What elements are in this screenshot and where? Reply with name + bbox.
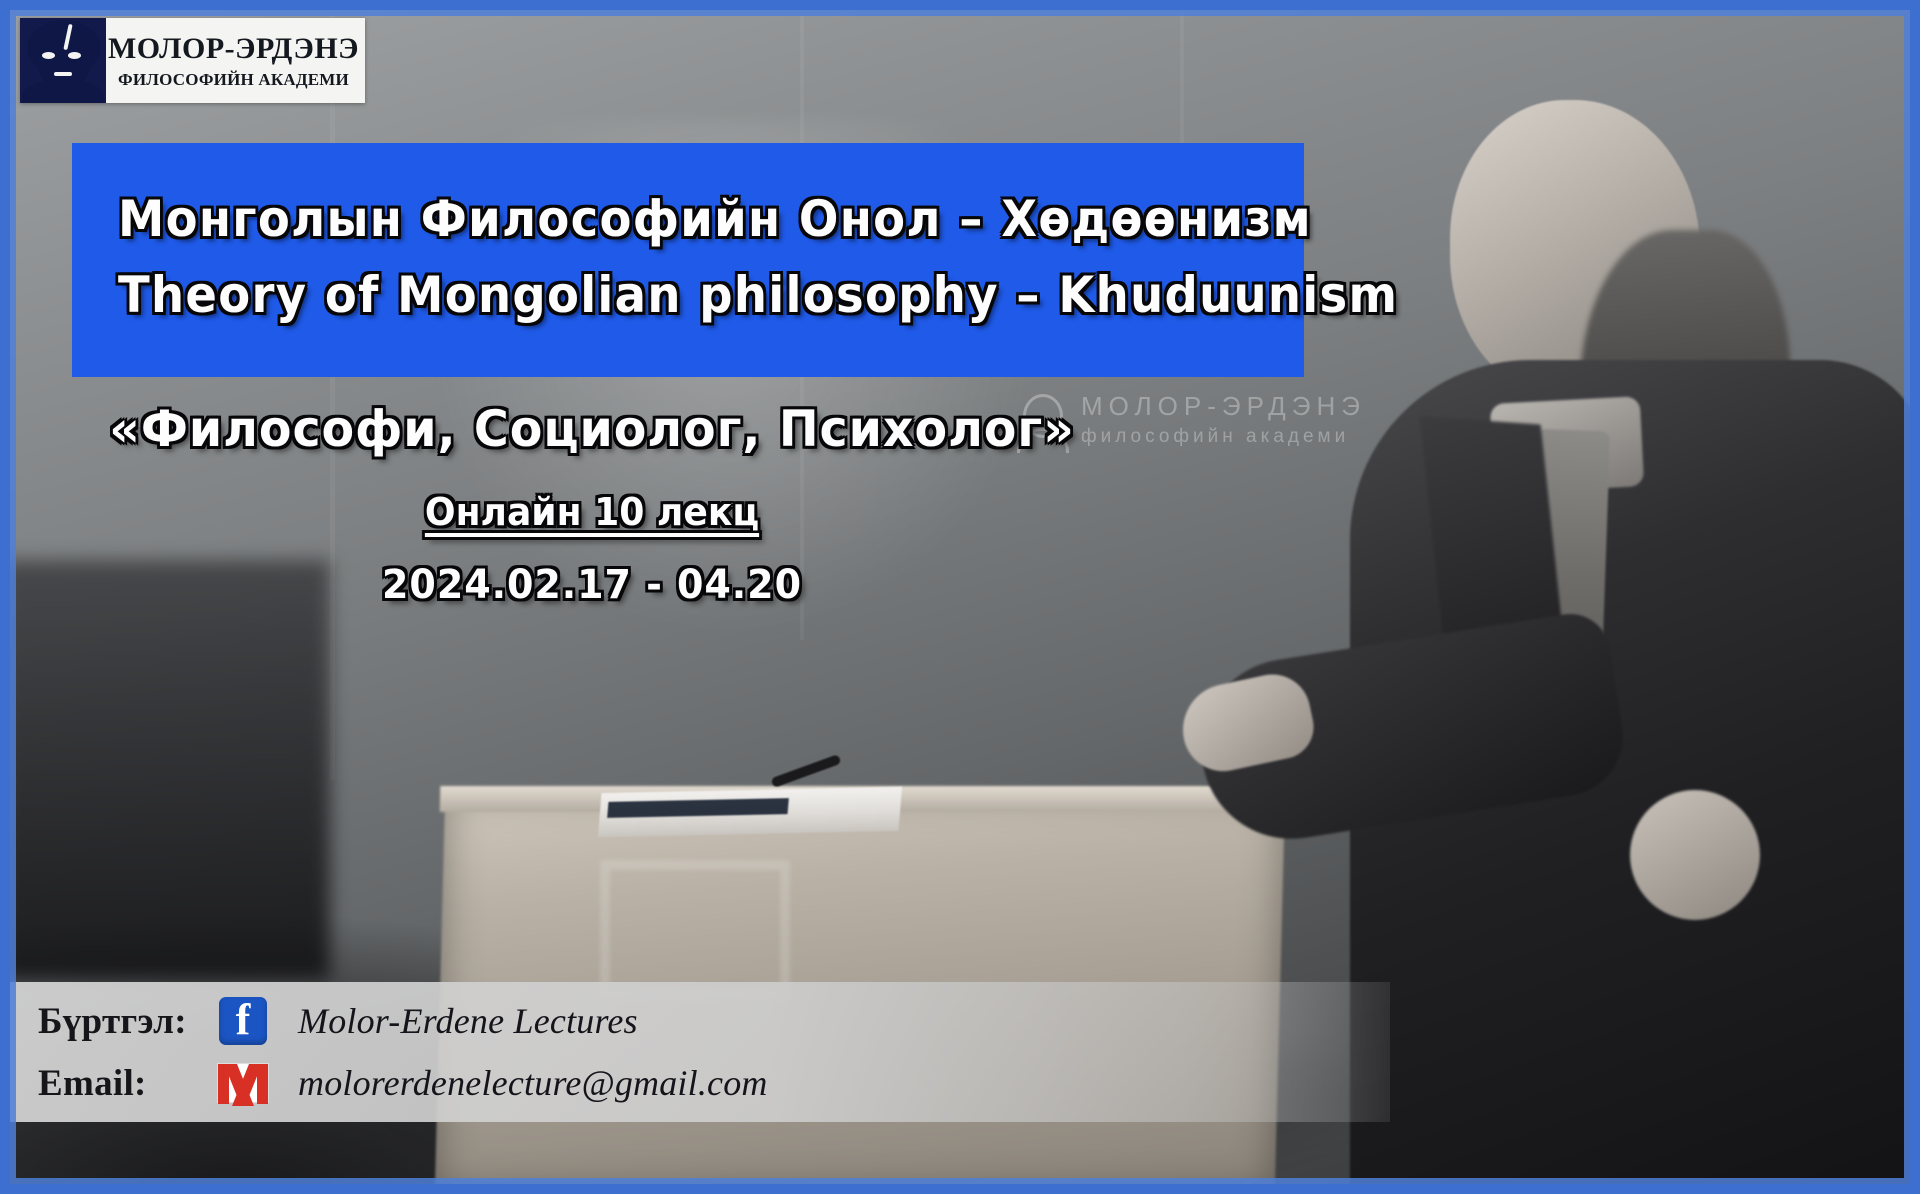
podium-panel	[600, 860, 790, 1000]
dark-doorway	[0, 560, 330, 980]
portrait-silhouette-icon	[20, 18, 106, 103]
email-label: Email:	[38, 1062, 214, 1105]
title-english: Theory of Mongolian philosophy – Khuduun…	[118, 267, 1398, 324]
logo-line-2: ФИЛОСОФИЙН АКАДЕМИ	[118, 71, 349, 88]
wall-seam	[330, 0, 335, 780]
title-banner: Монголын Философийн Онол – Хөдөөнизм The…	[72, 143, 1304, 377]
academy-logo: МОЛОР-ЭРДЭНЭ ФИЛОСОФИЙН АКАДЕМИ	[20, 18, 365, 103]
gmail-icon[interactable]	[214, 1063, 272, 1103]
logo-text: МОЛОР-ЭРДЭНЭ ФИЛОСОФИЙН АКАДЕМИ	[106, 18, 365, 103]
subtitle-block: «Философи, Социолог, Психолог» Онлайн 10…	[72, 400, 1112, 608]
facebook-icon[interactable]	[214, 997, 272, 1045]
contact-row-email: Email: molorerdenelecture@gmail.com	[38, 1052, 1390, 1114]
lecture-format: Онлайн 10 лекц	[98, 490, 1086, 534]
email-address[interactable]: molorerdenelecture@gmail.com	[298, 1062, 768, 1104]
speaker-fist	[1630, 790, 1760, 920]
contact-row-registration: Бүртгэл: Molor-Erdene Lectures	[38, 990, 1390, 1052]
title-mongolian: Монголын Философийн Онол – Хөдөөнизм	[118, 191, 1312, 248]
lecture-topic: «Философи, Социолог, Психолог»	[98, 400, 1086, 458]
lecture-announcement-poster: МОЛОР-ЭРДЭНЭ ФИЛОСОФИЙН АКАДЕМИ МОЛОР-ЭР…	[0, 0, 1920, 1194]
pen	[770, 754, 841, 788]
facebook-page-name[interactable]: Molor-Erdene Lectures	[298, 1000, 638, 1042]
logo-line-1: МОЛОР-ЭРДЭНЭ	[108, 34, 359, 64]
registration-label: Бүртгэл:	[38, 1000, 214, 1043]
contact-bar: Бүртгэл: Molor-Erdene Lectures Email: mo…	[10, 982, 1390, 1122]
lecture-dates: 2024.02.17 - 04.20	[98, 562, 1086, 608]
